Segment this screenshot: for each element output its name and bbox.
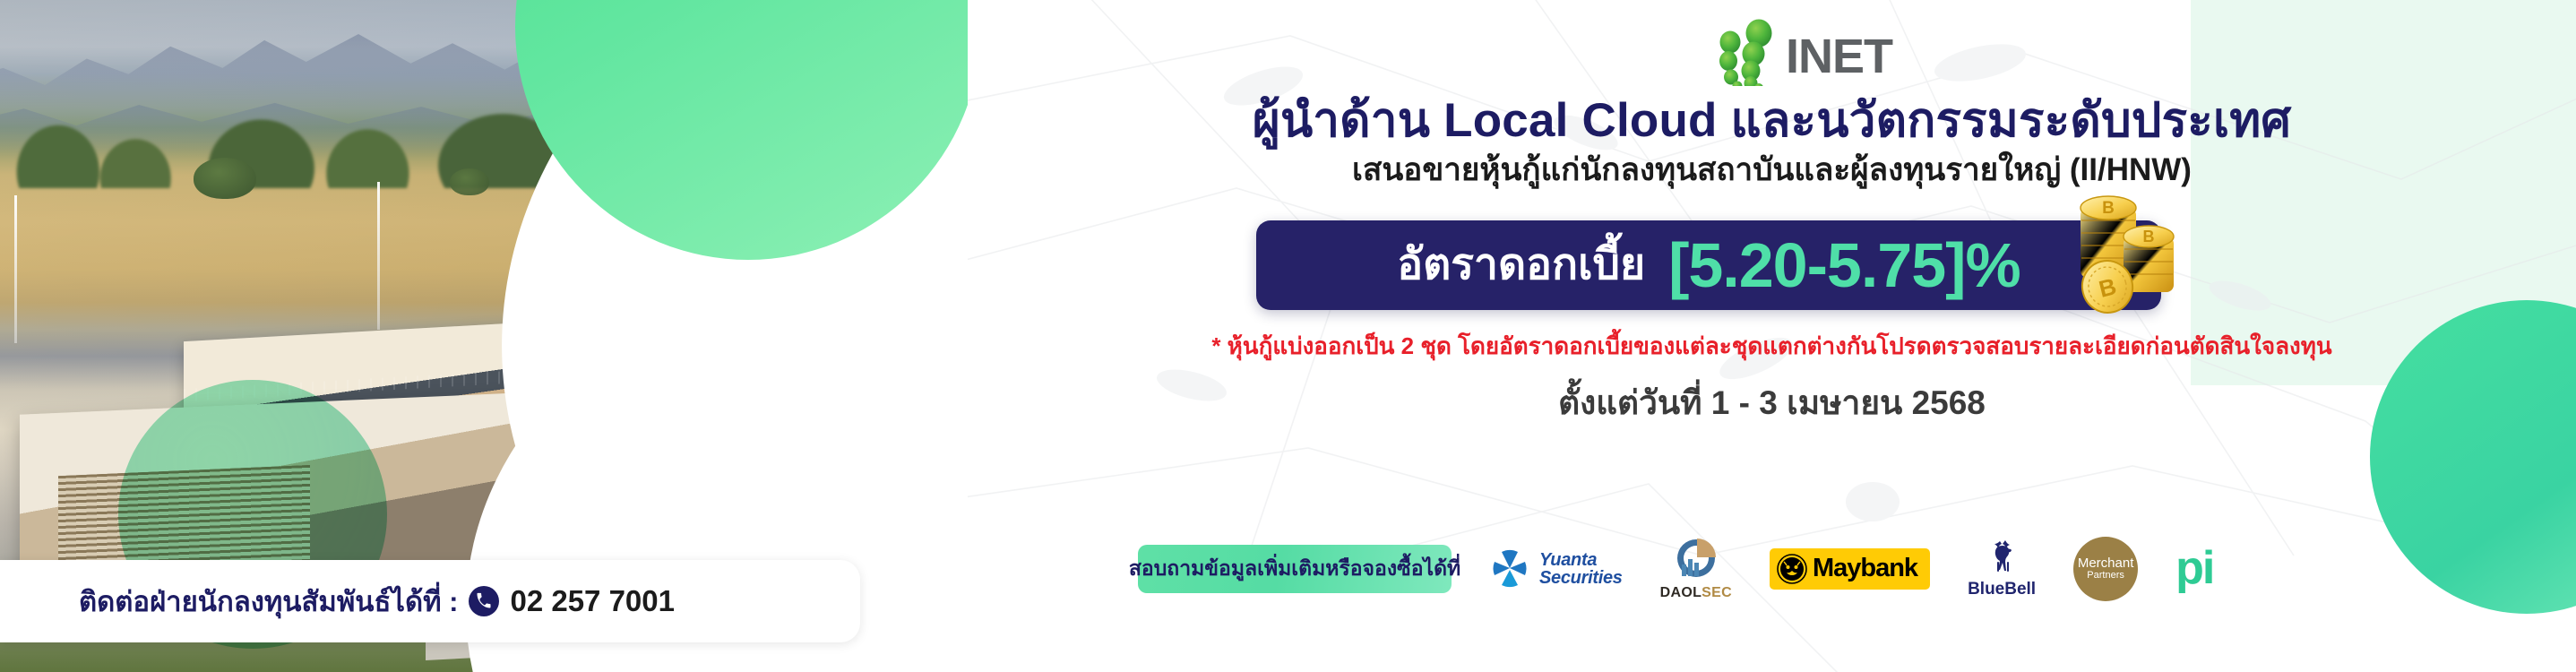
daol-sec: SEC — [1702, 585, 1732, 600]
gold-coins-icon: B B B — [2055, 181, 2190, 324]
inet-logo[interactable]: INET — [1680, 14, 1949, 86]
interest-rate-label: อัตราดอกเบี้ย — [1397, 244, 1645, 287]
pi-wordmark: pi — [2175, 550, 2213, 588]
yuanta-star-icon — [1489, 548, 1530, 590]
phone-icon — [469, 586, 499, 616]
maybank-tiger-icon — [1777, 554, 1807, 584]
yuanta-name-line2: Securities — [1539, 569, 1623, 587]
inet-logo-wordmark: INET — [1786, 29, 1892, 84]
bluebell-deer-icon — [1981, 538, 2022, 575]
investor-relations-contact-card: ติดต่อฝ่ายนักลงทุนสัมพันธ์ได้ที่ : 02 25… — [0, 560, 860, 642]
svg-text:B: B — [2143, 228, 2155, 246]
bluebell-wordmark: BlueBell — [1968, 580, 2036, 599]
lone-tree — [194, 158, 256, 199]
disclaimer-note: * หุ้นกู้แบ่งออกเป็น 2 ชุด โดยอัตราดอกเบ… — [968, 328, 2576, 365]
daol-name: DAOL — [1660, 585, 1702, 600]
subheadline: เสนอขายหุ้นกู้แก่นักลงทุนสถาบันและผู้ลงท… — [968, 145, 2576, 194]
partner-logo-daolsec[interactable]: DAOLSEC — [1660, 536, 1732, 601]
inet-bond-offering-banner: INET ผู้นำด้าน Local Cloud และนวัตกรรมระ… — [0, 0, 2576, 672]
utility-pole — [14, 195, 17, 343]
interest-rate-value: [5.20-5.75]% — [1668, 234, 2020, 297]
contact-label: ติดต่อฝ่ายนักลงทุนสัมพันธ์ได้ที่ : — [79, 579, 458, 624]
content-panel: INET ผู้นำด้าน Local Cloud และนวัตกรรมระ… — [968, 0, 2576, 672]
contact-phone-number[interactable]: 02 257 7001 — [510, 584, 675, 618]
daol-pie-icon — [1672, 536, 1720, 581]
lone-tree-2 — [450, 168, 489, 195]
yuanta-name-line1: Yuanta — [1539, 551, 1623, 569]
partner-logos: Yuanta Securities — [1489, 536, 2213, 601]
contact-cta-button[interactable]: สอบถามข้อมูลเพิ่มเติมหรือจองซื้อได้ที่ — [1138, 545, 1452, 593]
utility-pole — [377, 182, 380, 330]
partner-logo-yuanta[interactable]: Yuanta Securities — [1489, 548, 1623, 590]
merchant-name-line2: Partners — [2087, 571, 2124, 582]
maybank-wordmark: Maybank — [1813, 554, 1917, 583]
partner-logo-maybank[interactable]: Maybank — [1770, 548, 1930, 590]
partner-logo-merchant-partners[interactable]: Merchant Partners — [2073, 537, 2138, 601]
interest-rate-banner: อัตราดอกเบี้ย [5.20-5.75]% — [1256, 220, 2161, 310]
partner-logo-bluebell[interactable]: BlueBell — [1968, 538, 2036, 599]
offering-date-line: ตั้งแต่วันที่ 1 - 3 เมษายน 2568 — [968, 376, 2576, 429]
daol-wordmark: DAOLSEC — [1660, 585, 1732, 601]
svg-text:B: B — [2102, 199, 2115, 218]
cta-row: สอบถามข้อมูลเพิ่มเติมหรือจองซื้อได้ที่ Y… — [968, 536, 2576, 601]
partner-logo-pi[interactable]: pi — [2175, 550, 2213, 588]
merchant-name-line1: Merchant — [2078, 556, 2134, 571]
